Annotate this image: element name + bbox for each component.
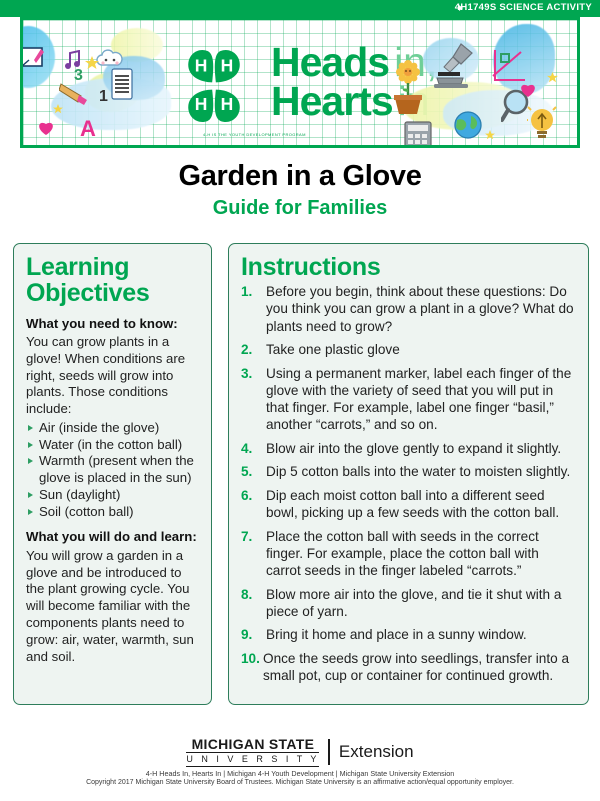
svg-text:H: H	[195, 55, 208, 75]
step-number: 9.	[241, 626, 263, 643]
do-and-learn-body: You will grow a garden in a glove and be…	[26, 548, 200, 665]
step-text: Place the cotton ball with seeds in the …	[266, 529, 539, 578]
step-text: Once the seeds grow into seedlings, tran…	[263, 651, 569, 683]
lined-paper-icon	[111, 68, 133, 100]
page-title: Garden in a Glove	[0, 160, 600, 193]
list-item: 5.Dip 5 cotton balls into the water to m…	[241, 463, 577, 480]
step-number: 7.	[241, 528, 263, 545]
instructions-list: 1.Before you begin, think about these qu…	[241, 283, 577, 684]
step-text: Before you begin, think about these ques…	[266, 284, 574, 333]
number-one-icon: 1	[99, 88, 108, 106]
step-text: Dip each moist cotton ball into a differ…	[266, 488, 559, 520]
star-icon	[485, 130, 495, 140]
notebook-icon	[21, 44, 47, 70]
need-to-know-heading: What you need to know:	[26, 316, 200, 333]
list-item: 6.Dip each moist cotton ball into a diff…	[241, 487, 577, 521]
step-text: Blow more air into the glove, and tie it…	[266, 587, 561, 619]
step-text: Take one plastic glove	[266, 342, 400, 357]
footer-copyright: Copyright 2017 Michigan State University…	[0, 779, 600, 786]
footer-credits: 4-H Heads In, Hearts In | Michigan 4-H Y…	[0, 769, 600, 778]
letter-a-icon: A	[80, 116, 96, 142]
four-leaf-clover-4h-logo: H H H H	[168, 40, 260, 132]
lightbulb-icon	[527, 106, 557, 142]
msu-extension-word: Extension	[339, 742, 414, 762]
calculator-icon	[403, 120, 435, 148]
list-item: Sun (daylight)	[26, 487, 200, 504]
step-text: Blow air into the glove gently to expand…	[266, 441, 561, 456]
step-number: 8.	[241, 586, 263, 603]
list-item: 2.Take one plastic glove	[241, 341, 577, 358]
step-text: Bring it home and place in a sunny windo…	[266, 627, 527, 642]
page-subtitle: Guide for Families	[0, 197, 600, 220]
learning-objectives-heading: Learning Objectives	[26, 254, 200, 307]
list-item: Water (in the cotton ball)	[26, 437, 200, 454]
svg-text:H: H	[195, 94, 208, 114]
learning-objectives-panel: Learning Objectives What you need to kno…	[13, 243, 212, 705]
svg-text:H: H	[221, 94, 234, 114]
step-number: 2.	[241, 341, 263, 358]
instructions-panel: Instructions 1.Before you begin, think a…	[228, 243, 589, 705]
star-icon	[53, 104, 63, 114]
list-item: Warmth (present when the glove is placed…	[26, 453, 200, 487]
globe-icon	[453, 110, 483, 140]
activity-code-label: 4H1749S SCIENCE ACTIVITY	[455, 2, 592, 13]
do-and-learn-heading: What you will do and learn:	[26, 529, 200, 546]
msu-extension-logo: MICHIGAN STATE U N I V E R S I T Y Exten…	[0, 736, 600, 767]
top-green-strip: 4H1749S SCIENCE ACTIVITY	[0, 0, 600, 17]
list-item: 3.Using a permanent marker, label each f…	[241, 365, 577, 434]
heading-line-2: Objectives	[26, 280, 200, 306]
step-number: 5.	[241, 463, 263, 480]
logo-divider	[328, 739, 330, 765]
msu-university-lockup: MICHIGAN STATE U N I V E R S I T Y	[186, 737, 319, 767]
list-item: 10.Once the seeds grow into seedlings, t…	[241, 650, 577, 684]
list-item: 1.Before you begin, think about these qu…	[241, 283, 577, 334]
step-number: 1.	[241, 283, 263, 300]
heart-icon	[37, 120, 55, 136]
list-item: Soil (cotton ball)	[26, 504, 200, 521]
step-text: Using a permanent marker, label each fin…	[266, 366, 571, 432]
list-item: 7.Place the cotton ball with seeds in th…	[241, 528, 577, 579]
wordmark-hearts: Hearts	[271, 78, 393, 124]
microscope-icon	[431, 42, 477, 90]
number-three-icon: 3	[74, 67, 83, 85]
step-number: 4.	[241, 440, 263, 457]
graph-axes-icon	[491, 50, 527, 84]
list-item: 9.Bring it home and place in a sunny win…	[241, 626, 577, 643]
conditions-list: Air (inside the glove) Water (in the cot…	[26, 420, 200, 521]
msu-university: U N I V E R S I T Y	[186, 753, 319, 766]
step-number: 3.	[241, 365, 263, 382]
heart-icon	[519, 82, 537, 98]
list-item: Air (inside the glove)	[26, 420, 200, 437]
instructions-heading: Instructions	[241, 254, 577, 280]
heading-line-1: Learning	[26, 254, 200, 280]
step-text: Dip 5 cotton balls into the water to moi…	[266, 464, 570, 479]
need-to-know-body: You can grow plants in a glove! When con…	[26, 334, 200, 418]
msu-michigan-state: MICHIGAN STATE	[186, 737, 319, 753]
step-number: 6.	[241, 487, 263, 504]
list-item: 8.Blow more air into the glove, and tie …	[241, 586, 577, 620]
svg-text:H: H	[221, 55, 234, 75]
list-item: 4.Blow air into the glove gently to expa…	[241, 440, 577, 457]
star-icon	[547, 72, 558, 83]
flower-pot-icon	[393, 60, 423, 118]
logo-trademark-text: 4-H IS THE YOUTH DEVELOPMENT PROGRAM	[203, 132, 306, 137]
step-number: 10.	[241, 650, 263, 667]
document-page: 4H1749S SCIENCE ACTIVITY	[0, 0, 600, 801]
star-icon	[85, 56, 99, 70]
heads-in-hearts-in-banner: A 3 1 H H H H 4-H IS THE YOUTH DEVELOPME…	[20, 17, 580, 148]
